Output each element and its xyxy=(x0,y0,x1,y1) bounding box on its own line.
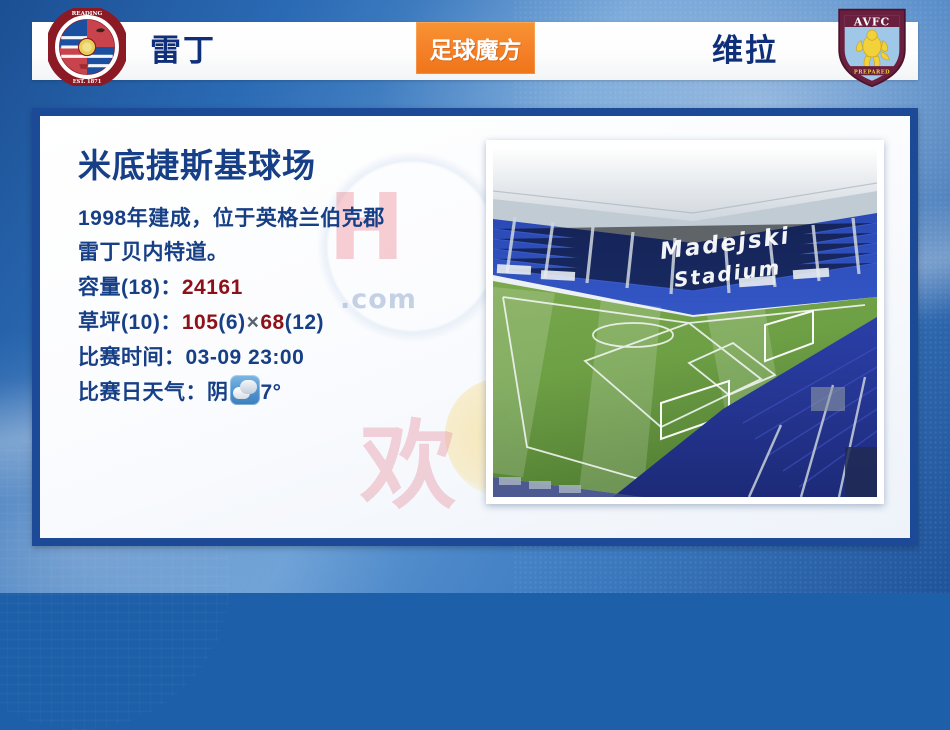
site-logo-text: 足球魔方 xyxy=(430,31,522,65)
aston-villa-badge[interactable]: AVFC PREPARED xyxy=(834,6,910,88)
reading-fc-badge[interactable]: READING EST. 1871 xyxy=(48,8,126,86)
svg-text:EST. 1871: EST. 1871 xyxy=(73,79,102,85)
pitch-separator: ： xyxy=(160,311,182,334)
overcast-cloud-icon xyxy=(230,375,260,405)
weather-separator: ： xyxy=(186,381,208,404)
pitch-length-rank: (6) xyxy=(218,311,245,334)
pitch-length: 105 xyxy=(182,311,219,334)
weather-label: 比赛日天气 xyxy=(78,381,186,404)
capacity-rank: (18) xyxy=(121,276,160,299)
madejski-stadium-photo: Madejski Stadium xyxy=(493,147,877,497)
match-time-label: 比赛时间 xyxy=(78,346,164,369)
away-team-name: 维拉 xyxy=(712,32,778,70)
pitch-label: 草坪 xyxy=(78,311,121,334)
match-time-value: 03-09 23:00 xyxy=(186,346,305,369)
match-time-separator: ： xyxy=(164,346,186,369)
capacity-label: 容量 xyxy=(78,276,121,299)
capacity-separator: ： xyxy=(160,276,182,299)
site-logo[interactable]: 足球魔方 xyxy=(416,22,535,74)
stadium-description-line-1: 1998年建成，位于英格兰伯克郡 xyxy=(78,202,508,236)
stadium-title: 米底捷斯基球场 xyxy=(78,146,508,186)
capacity-row: 容量(18)：24161 xyxy=(78,270,508,305)
weather-temperature: 7° xyxy=(261,381,282,404)
weather-row: 比赛日天气：阴7° xyxy=(78,375,508,410)
pitch-width: 68 xyxy=(260,311,284,334)
weather-condition: 阴 xyxy=(207,381,229,404)
stadium-description-line-2: 雷丁贝内特道。 xyxy=(78,236,508,270)
svg-text:READING: READING xyxy=(72,11,103,17)
pitch-row: 草坪(10)：105(6)×68(12) xyxy=(78,305,508,340)
svg-text:PREPARED: PREPARED xyxy=(854,69,890,75)
stadium-info-block: 米底捷斯基球场 1998年建成，位于英格兰伯克郡 雷丁贝内特道。 容量(18)：… xyxy=(78,146,508,410)
svg-text:AVFC: AVFC xyxy=(853,16,890,29)
pitch-times-symbol: × xyxy=(246,311,261,334)
pitch-width-rank: (12) xyxy=(285,311,324,334)
panel-inner: H .com 欢 米底捷斯基球场 1998年建成，位于英格兰伯克郡 雷丁贝内特道… xyxy=(40,116,910,538)
home-team-name: 雷丁 xyxy=(150,32,216,70)
stadium-photo-frame[interactable]: Madejski Stadium xyxy=(486,140,884,504)
pitch-rank: (10) xyxy=(121,311,160,334)
match-time-row: 比赛时间：03-09 23:00 xyxy=(78,340,508,375)
stadium-info-panel: H .com 欢 米底捷斯基球场 1998年建成，位于英格兰伯克郡 雷丁贝内特道… xyxy=(32,108,918,546)
capacity-value: 24161 xyxy=(182,276,243,299)
